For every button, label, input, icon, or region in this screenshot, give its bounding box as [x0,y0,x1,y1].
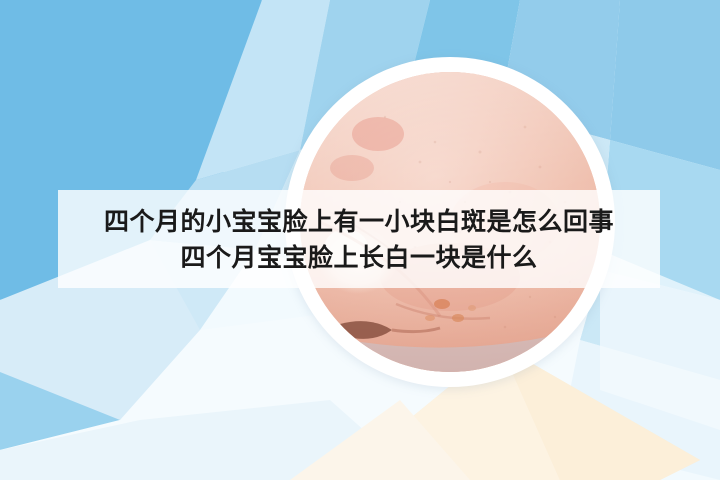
caption-line-1: 四个月的小宝宝脸上有一小块白斑是怎么回事 [104,205,614,238]
article-cover-banner: 四个月的小宝宝脸上有一小块白斑是怎么回事 四个月宝宝脸上长白一块是什么 [0,0,720,480]
caption-text-block: 四个月的小宝宝脸上有一小块白斑是怎么回事 四个月宝宝脸上长白一块是什么 [58,190,660,288]
caption-line-2: 四个月宝宝脸上长白一块是什么 [180,241,537,274]
